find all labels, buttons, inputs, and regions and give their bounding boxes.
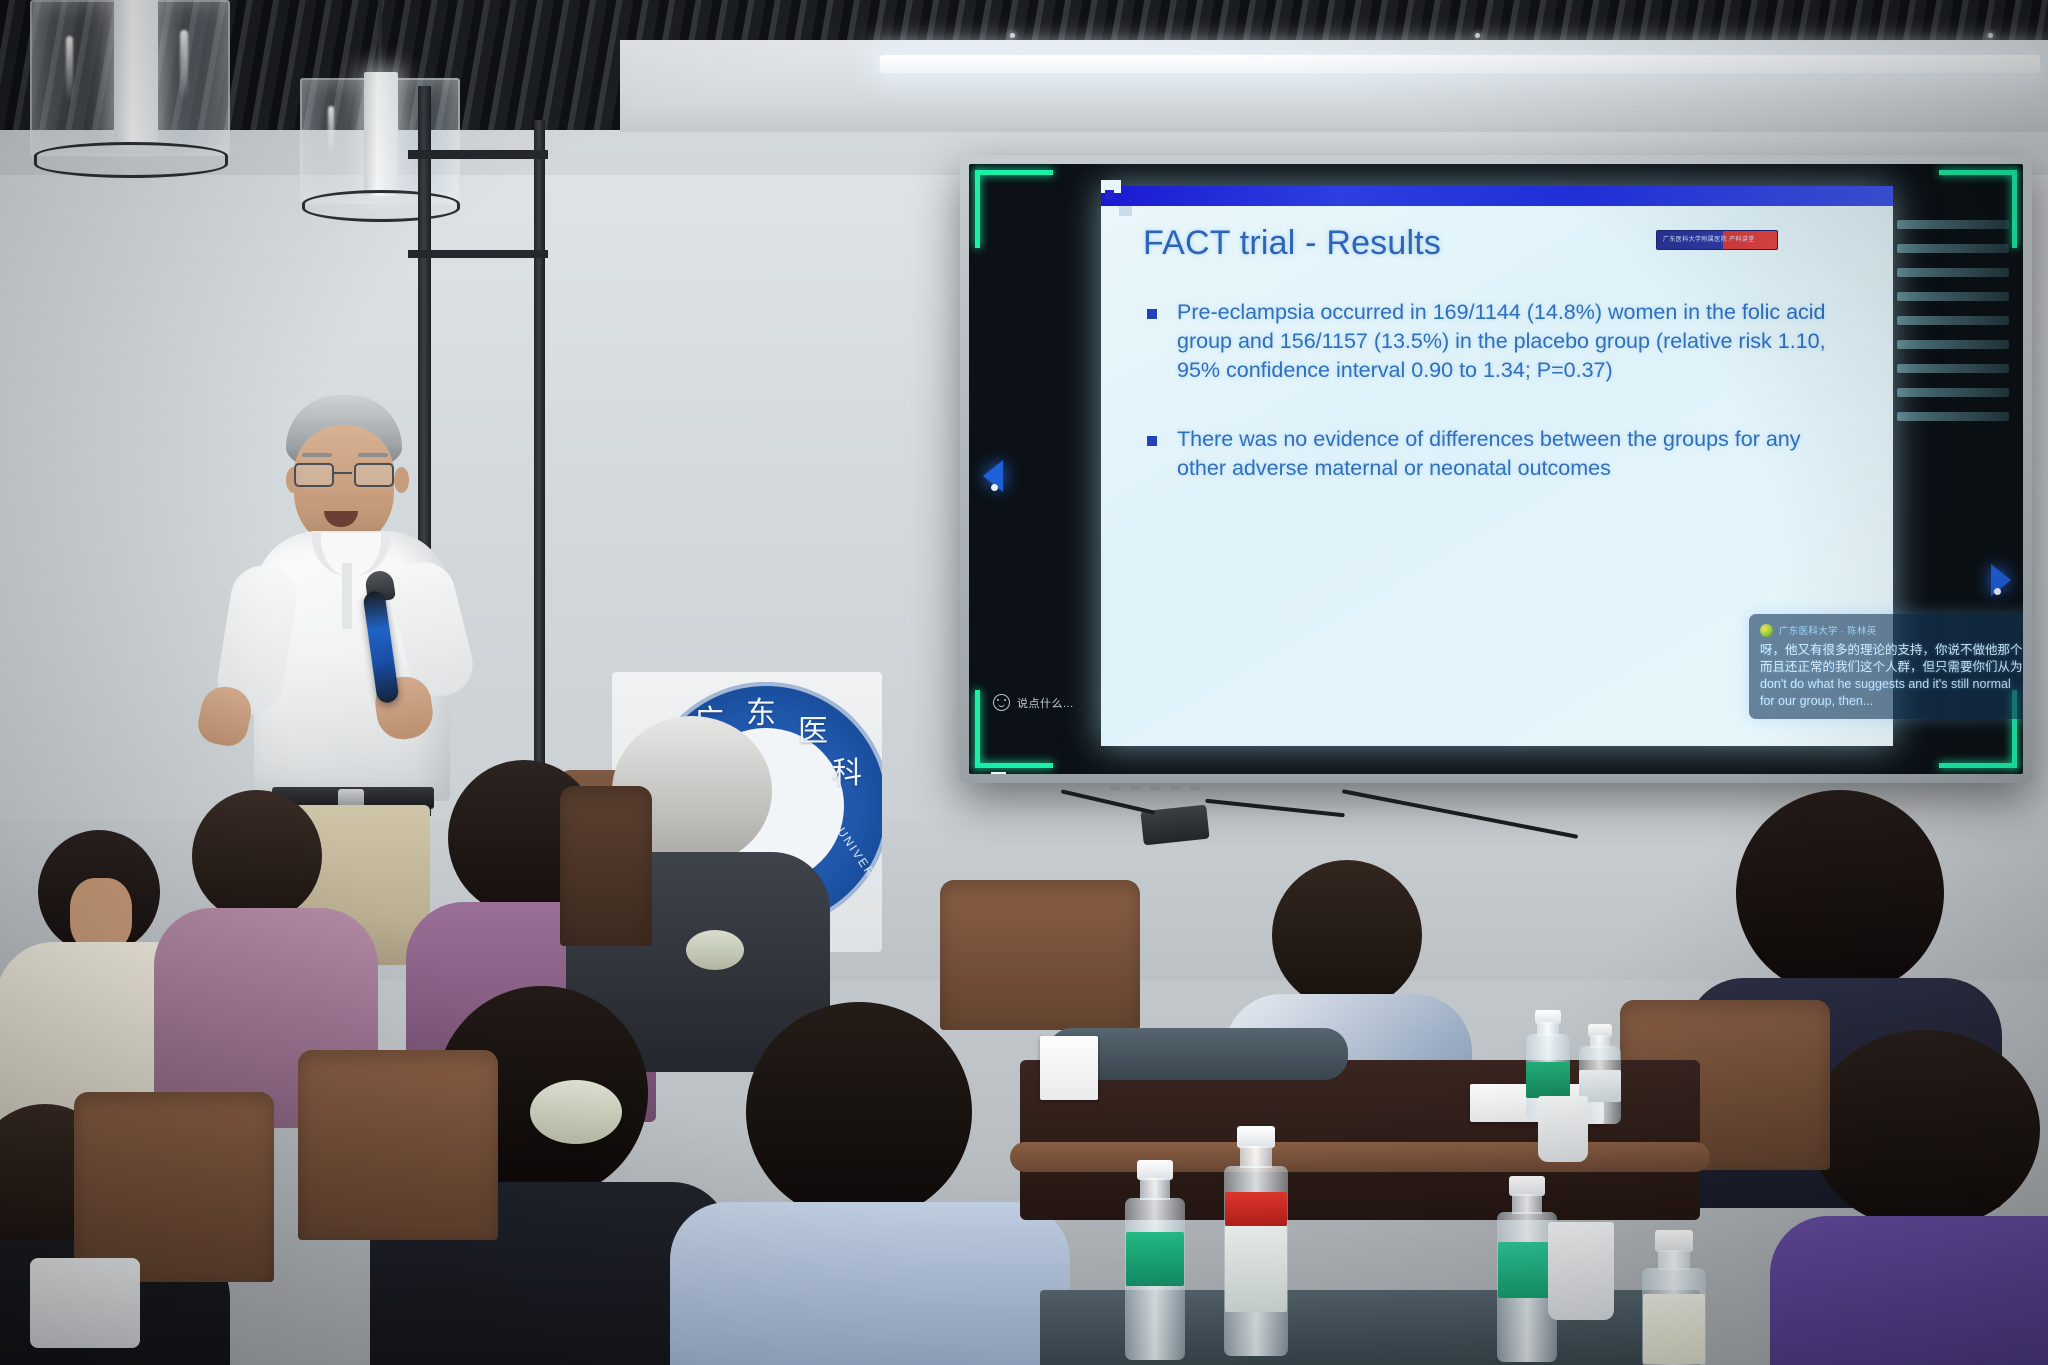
lamp-ring bbox=[302, 190, 460, 222]
attendee-list-panel[interactable] bbox=[1897, 220, 2009, 436]
lamp-highlight bbox=[66, 36, 73, 102]
seat bbox=[74, 1092, 274, 1282]
ceiling-spot-icon bbox=[1475, 33, 1480, 38]
paper-cup bbox=[30, 1258, 140, 1348]
caption-line: don't do what he suggests and it's still… bbox=[1760, 676, 2022, 693]
bullet-square-icon bbox=[1147, 309, 1157, 319]
emblem-chinese-text: 科 bbox=[832, 748, 862, 792]
attendee-row[interactable] bbox=[1897, 220, 2009, 229]
slide-corner-square bbox=[1105, 190, 1114, 199]
slide-bullet-item: There was no evidence of differences bet… bbox=[1145, 425, 1845, 483]
slide-corner-square bbox=[1119, 206, 1132, 216]
caption-line: 而且还正常的我们这个人群，但只需要你们从为 bbox=[1760, 659, 2022, 676]
presenter-brow bbox=[302, 453, 332, 457]
water-bottle bbox=[1636, 1230, 1712, 1365]
slide-bullet-item: Pre-eclampsia occurred in 169/1144 (14.8… bbox=[1145, 298, 1845, 385]
bezel-button-icon[interactable] bbox=[1170, 785, 1181, 790]
bullet-square-icon bbox=[1147, 436, 1157, 446]
seat bbox=[560, 786, 652, 946]
stop-indicator-icon[interactable] bbox=[991, 772, 1006, 774]
ceiling-spot-icon bbox=[1010, 33, 1015, 38]
ceiling-soffit bbox=[620, 40, 2048, 132]
hair-scrunchie bbox=[686, 930, 744, 970]
presenter-ear bbox=[394, 467, 409, 493]
name-card bbox=[1040, 1036, 1098, 1100]
attendee-row[interactable] bbox=[1897, 340, 2009, 349]
presentation-display[interactable]: FACT trial - Results 广东医科大学附属医院 产科讲堂 Pre… bbox=[960, 155, 2032, 783]
water-bottle bbox=[1118, 1160, 1192, 1360]
table-edge bbox=[1010, 1142, 1710, 1172]
slide-title: FACT trial - Results bbox=[1143, 224, 1441, 263]
lecture-hall-photo: FACT trial - Results 广东医科大学附属医院 产科讲堂 Pre… bbox=[0, 0, 2048, 1365]
display-bezel-buttons[interactable] bbox=[1110, 785, 1201, 790]
attendee-row[interactable] bbox=[1897, 268, 2009, 277]
caption-speaker-name: 广东医科大学 · 陈林英 bbox=[1779, 623, 1877, 637]
ceiling-spot-icon bbox=[1988, 33, 1993, 38]
paper-cup bbox=[1538, 1096, 1588, 1162]
slide-header-bar bbox=[1101, 186, 1893, 206]
presenter-placket bbox=[342, 563, 352, 629]
seat bbox=[940, 880, 1140, 1030]
emblem-english-text: UNIVERSITY bbox=[834, 825, 882, 909]
comment-input-bar[interactable]: 说点什么... bbox=[993, 694, 1074, 711]
caption-header: 广东医科大学 · 陈林英 bbox=[1760, 623, 2022, 637]
attendee-row[interactable] bbox=[1897, 364, 2009, 373]
bezel-button-icon[interactable] bbox=[1130, 785, 1141, 790]
bezel-button-icon[interactable] bbox=[1190, 785, 1201, 790]
seat bbox=[298, 1050, 498, 1240]
caption-line: for our group, then... bbox=[1760, 693, 2022, 710]
slide-bullet-text: Pre-eclampsia occurred in 169/1144 (14.8… bbox=[1177, 298, 1845, 385]
comment-placeholder: 说点什么... bbox=[1017, 695, 1074, 711]
prev-arrow-dot-icon bbox=[991, 484, 998, 491]
live-caption-overlay: 广东医科大学 · 陈林英 呀，他又有很多的理论的支持，你说不做他那个， 而且还正… bbox=[1749, 614, 2023, 719]
emoji-icon[interactable] bbox=[993, 694, 1010, 711]
attendee-row[interactable] bbox=[1897, 412, 2009, 421]
slide-bullet-list: Pre-eclampsia occurred in 169/1144 (14.8… bbox=[1145, 298, 1845, 523]
caption-avatar-icon bbox=[1760, 624, 1773, 637]
corner-bracket-top-left-icon bbox=[975, 170, 1053, 248]
attendee-row[interactable] bbox=[1897, 388, 2009, 397]
slide-bullet-text: There was no evidence of differences bet… bbox=[1177, 425, 1845, 483]
next-arrow-dot-icon bbox=[1994, 588, 2001, 595]
pendant-lamp bbox=[30, 0, 230, 180]
water-bottle bbox=[1218, 1126, 1294, 1356]
attendee-row[interactable] bbox=[1897, 292, 2009, 301]
ceiling-light-strip bbox=[880, 55, 2040, 73]
audience-member bbox=[690, 1002, 1030, 1365]
lamp-highlight bbox=[180, 30, 188, 100]
display-screen[interactable]: FACT trial - Results 广东医科大学附属医院 产科讲堂 Pre… bbox=[969, 164, 2023, 774]
caption-line: 呀，他又有很多的理论的支持，你说不做他那个， bbox=[1760, 642, 2022, 659]
lamp-highlight bbox=[328, 106, 334, 160]
bezel-button-icon[interactable] bbox=[1150, 785, 1161, 790]
presenter-brow bbox=[358, 453, 388, 457]
pole-bracket bbox=[408, 150, 548, 159]
paper-cup bbox=[1548, 1222, 1614, 1320]
lamp-tube bbox=[364, 72, 398, 196]
attendee-row[interactable] bbox=[1897, 244, 2009, 253]
slide-badge-text: 广东医科大学附属医院 产科讲堂 bbox=[1657, 231, 1777, 243]
bezel-button-icon[interactable] bbox=[1110, 785, 1121, 790]
attendee-row[interactable] bbox=[1897, 316, 2009, 325]
hair-scrunchie bbox=[530, 1080, 622, 1144]
glasses-icon bbox=[294, 463, 394, 485]
lamp-ring bbox=[34, 142, 228, 178]
pole-bracket bbox=[408, 250, 548, 258]
slide-title-badge: 广东医科大学附属医院 产科讲堂 bbox=[1656, 230, 1778, 250]
support-pole bbox=[534, 120, 545, 820]
lamp-tube bbox=[114, 0, 158, 142]
